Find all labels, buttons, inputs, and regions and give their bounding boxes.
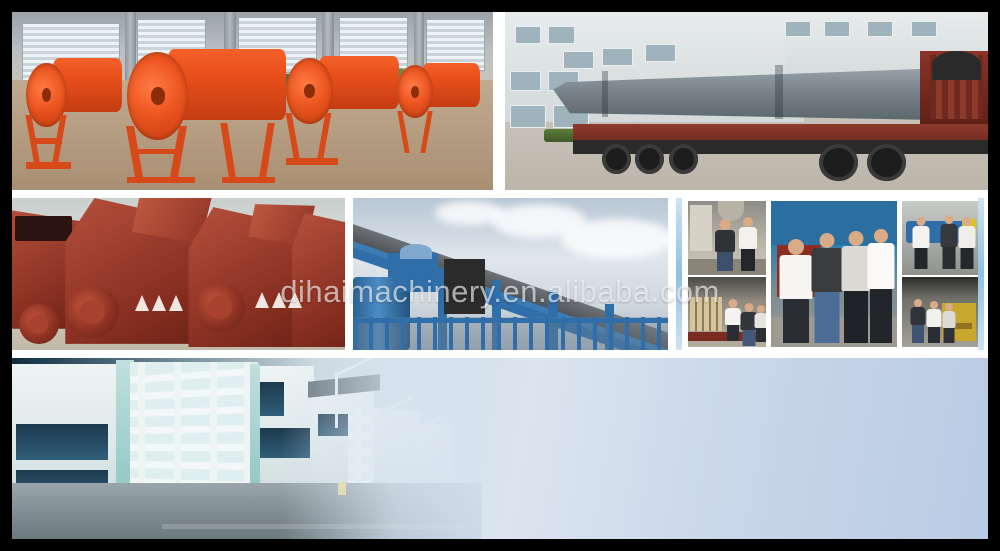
- collage-cell-visit-3: [771, 201, 897, 347]
- person: [940, 215, 958, 269]
- photo-rotary-kiln: [505, 12, 988, 190]
- ball-mill-unit: [397, 55, 493, 155]
- person: [926, 301, 942, 343]
- person: [811, 233, 843, 343]
- collage-cell-visit-2: [688, 277, 766, 347]
- about-us-band: ABOUT US Henan Di Hai Machinery Co., Ltd…: [12, 358, 988, 539]
- collage-left-accent-bar: [676, 198, 682, 350]
- collage-cell-visit-1: [688, 201, 766, 275]
- photo-factory-buildings: [12, 358, 482, 539]
- photo-impact-crushers: [12, 198, 345, 350]
- person: [754, 305, 766, 341]
- ball-mill-unit: [26, 51, 137, 168]
- photo-belt-conveyor: [353, 198, 668, 350]
- person: [958, 217, 976, 269]
- photo-customer-collage: [676, 198, 988, 350]
- person: [738, 217, 758, 271]
- person: [779, 239, 813, 343]
- banner-sheet: ABOUT US Henan Di Hai Machinery Co., Ltd…: [12, 12, 988, 539]
- person: [942, 303, 956, 343]
- person: [714, 219, 736, 271]
- banner-frame: ABOUT US Henan Di Hai Machinery Co., Ltd…: [0, 0, 1000, 551]
- collage-right-accent-bar: [978, 198, 984, 350]
- person: [867, 229, 895, 343]
- person: [912, 217, 930, 269]
- ball-mill-unit: [127, 40, 305, 182]
- person: [910, 299, 926, 343]
- photo-ball-mills: [12, 12, 493, 190]
- collage-cell-visit-5: [902, 277, 978, 347]
- collage-cell-visit-4: [902, 201, 978, 275]
